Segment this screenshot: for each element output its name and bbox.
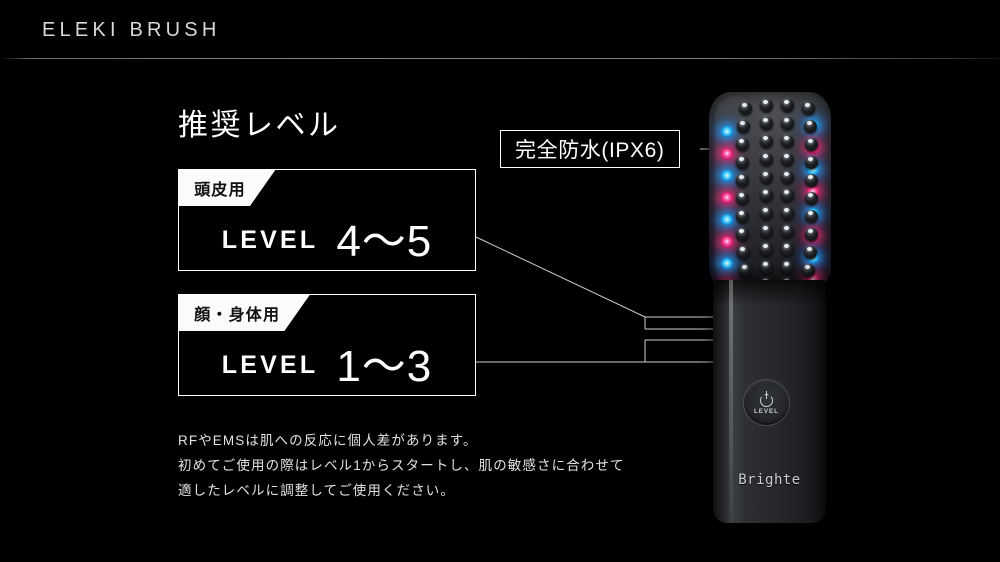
brush-pin xyxy=(805,174,818,187)
brush-pin xyxy=(737,120,750,133)
brush-pin xyxy=(805,156,818,169)
brush-pin xyxy=(802,264,815,277)
brush-pin xyxy=(781,225,794,238)
waterproof-badge: 完全防水(IPX6) xyxy=(500,130,680,168)
led-indicator xyxy=(721,192,733,204)
brush-pin xyxy=(804,120,817,133)
power-level-button[interactable]: LEVEL xyxy=(744,380,789,425)
callout-connectors xyxy=(0,0,1000,562)
brush-pin xyxy=(781,153,794,166)
brush-pin xyxy=(781,117,794,130)
brush-pin xyxy=(781,207,794,220)
brush-pin xyxy=(781,261,794,274)
device-brand-logo: Brighte xyxy=(713,472,826,488)
brush-pin xyxy=(781,135,794,148)
brush-pin xyxy=(760,99,773,112)
brush-pin xyxy=(781,189,794,202)
led-indicator xyxy=(721,236,733,248)
connector-diagonal-scalp xyxy=(476,237,645,317)
brush-pin xyxy=(760,171,773,184)
brush-pin xyxy=(781,171,794,184)
led-indicator xyxy=(721,148,733,160)
device-handle: LEVEL Brighte xyxy=(713,280,826,523)
brush-pin xyxy=(739,102,752,115)
brush-pin xyxy=(781,243,794,256)
brush-pin xyxy=(737,246,750,259)
brush-pin xyxy=(760,207,773,220)
brush-pin xyxy=(736,174,749,187)
brush-pin xyxy=(802,102,815,115)
brush-head xyxy=(709,92,831,297)
brush-pin xyxy=(760,261,773,274)
led-indicator xyxy=(721,258,733,270)
brush-pin xyxy=(804,246,817,259)
brush-pin xyxy=(739,264,752,277)
waterproof-badge-label: 完全防水(IPX6) xyxy=(515,134,665,164)
power-icon xyxy=(759,391,774,406)
led-indicator xyxy=(721,170,733,182)
brush-pin xyxy=(760,189,773,202)
brush-head-sheen xyxy=(715,96,757,286)
slide-root: ELEKI BRUSH 推奨レベル 頭皮用 LEVEL 4〜5 顔・身体用 LE… xyxy=(0,0,1000,562)
brush-pin xyxy=(736,138,749,151)
brush-pin xyxy=(805,192,818,205)
brush-pin xyxy=(781,99,794,112)
brush-pin xyxy=(736,210,749,223)
product-device: LEVEL Brighte xyxy=(700,80,850,540)
brush-pin xyxy=(760,243,773,256)
led-indicator xyxy=(721,126,733,138)
brush-pin xyxy=(760,225,773,238)
brush-pin xyxy=(760,153,773,166)
brush-pin xyxy=(805,228,818,241)
power-button-label: LEVEL xyxy=(754,408,779,415)
led-indicator xyxy=(721,214,733,226)
brush-pin xyxy=(736,192,749,205)
brush-pin xyxy=(805,138,818,151)
brush-pin xyxy=(805,210,818,223)
brush-pin xyxy=(736,156,749,169)
brush-pin xyxy=(736,228,749,241)
brush-pin xyxy=(760,135,773,148)
brush-pin xyxy=(760,117,773,130)
